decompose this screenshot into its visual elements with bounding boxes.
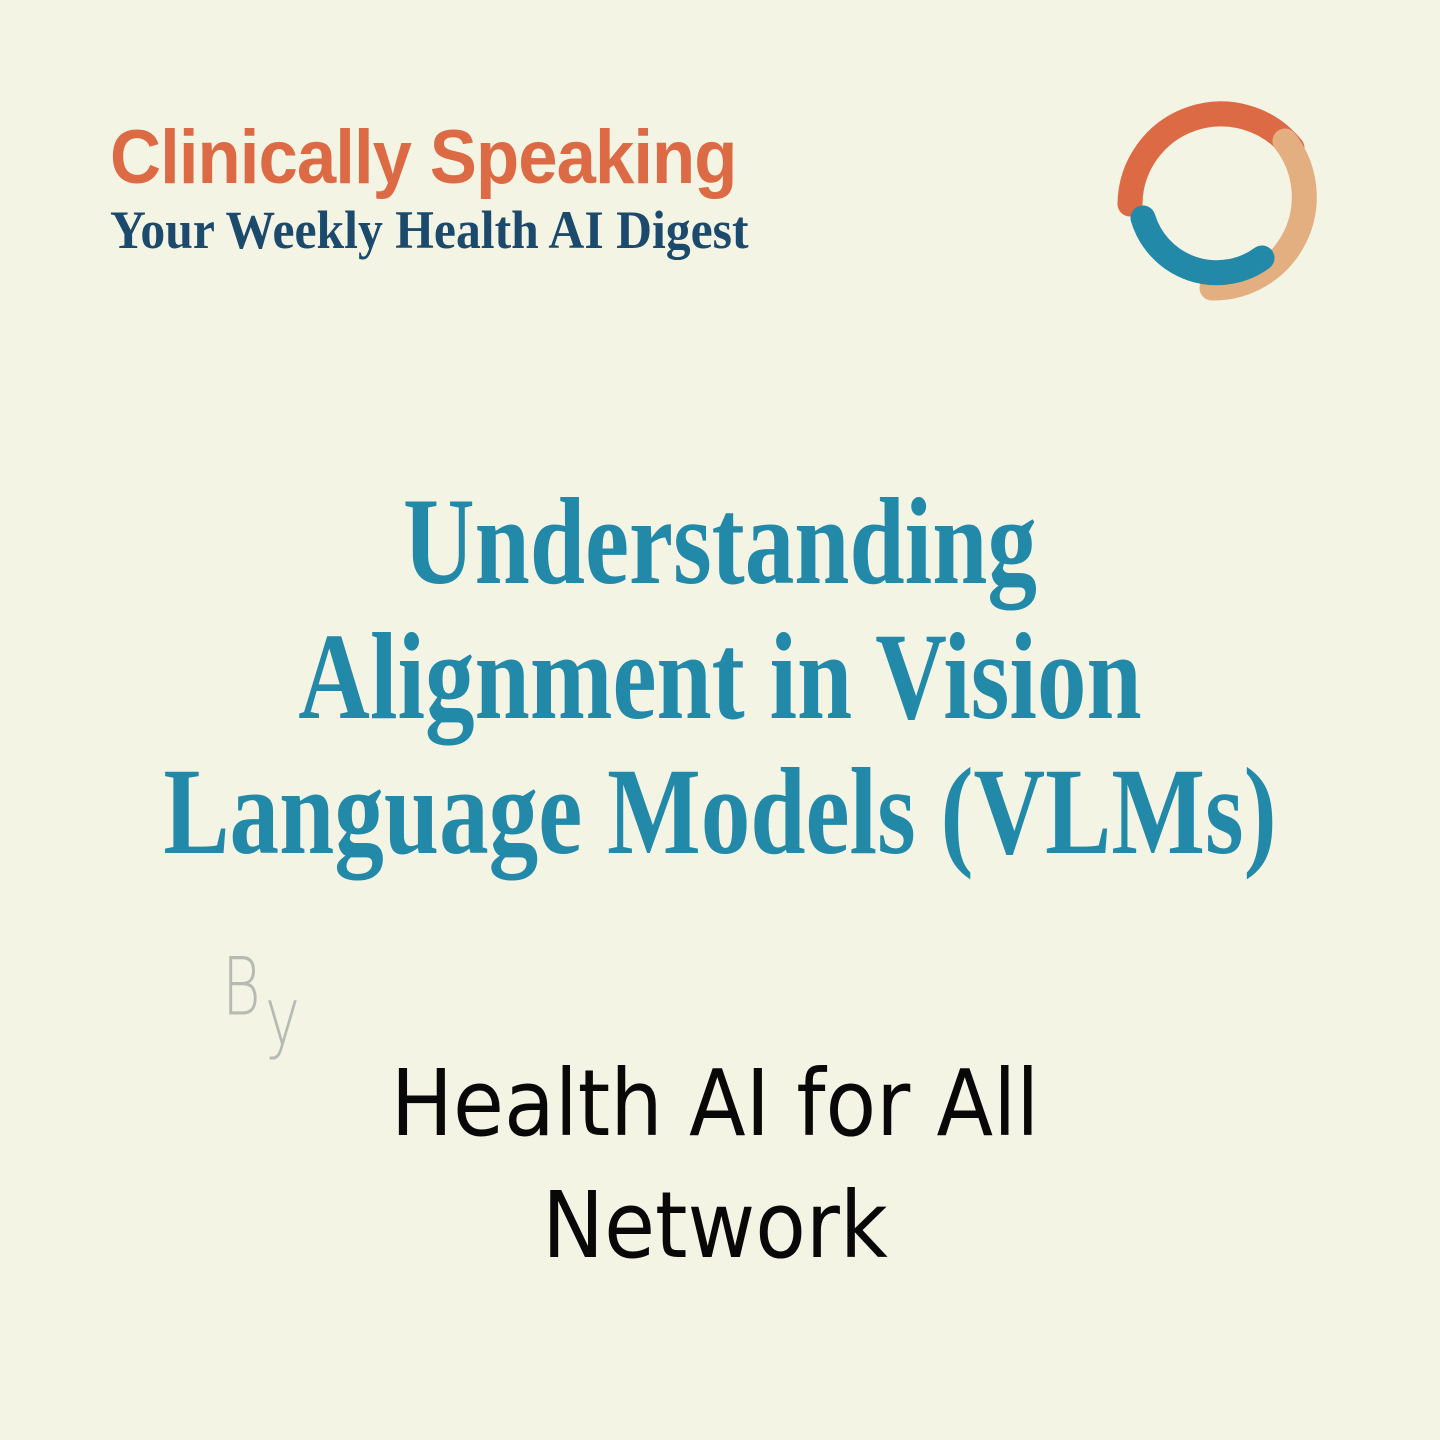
brand-logo [1116,92,1326,302]
by-label-letter-b: B [222,946,261,1027]
headline-line-2: Alignment in Vision [144,609,1296,744]
brand-tagline: Your Weekly Health AI Digest [110,202,938,259]
logo-arc-teal [1143,218,1262,273]
three-arc-circle-icon [1116,92,1326,302]
headline-line-1: Understanding [144,474,1296,609]
logo-arc-orange [1130,114,1292,204]
author-line-2: Network [378,1165,1053,1287]
headline-line-3: Language Models (VLMs) [144,744,1296,879]
masthead: Clinically Speaking Your Weekly Health A… [110,122,1010,259]
byline: By Health AI for All Network [0,955,1440,1285]
by-label: By [222,955,312,1027]
author-line-1: Health AI for All [378,1043,1053,1165]
headline: Understanding Alignment in Vision Langua… [0,474,1440,879]
brand-title: Clinically Speaking [110,122,947,194]
author-name: Health AI for All Network [340,1043,1090,1287]
by-label-letter-y: y [265,976,300,1057]
poster-canvas: Clinically Speaking Your Weekly Health A… [0,0,1440,1440]
